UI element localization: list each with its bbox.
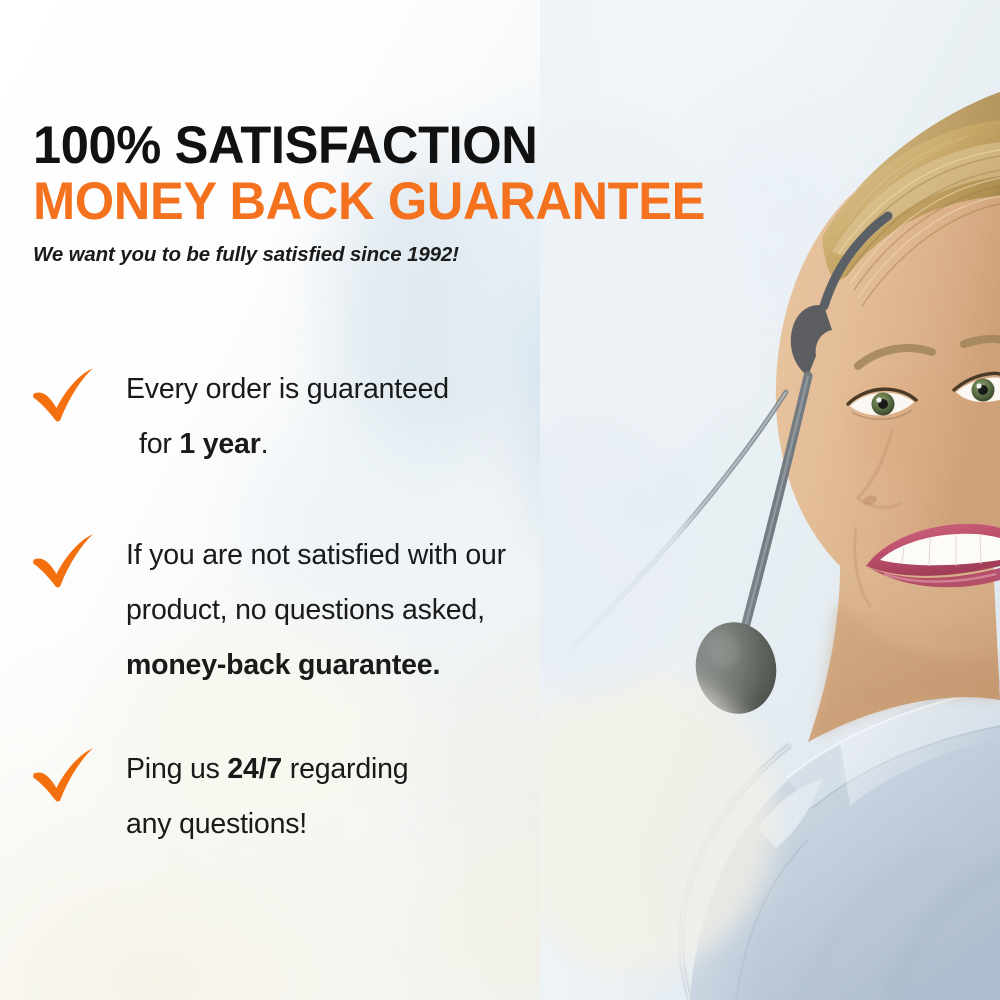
guarantee-item-text: Ping us 24/7 regarding any questions! — [126, 742, 670, 852]
guarantee-line: Every order is guaranteed — [126, 362, 670, 417]
checkmark-icon — [30, 532, 96, 588]
guarantee-line: Ping us 24/7 regarding — [126, 742, 670, 797]
guarantee-item: If you are not satisfied with our produc… — [30, 528, 670, 693]
subheading: We want you to be fully satisfied since … — [33, 243, 459, 267]
guarantee-line: If you are not satisfied with our — [126, 528, 670, 583]
guarantee-item: Ping us 24/7 regarding any questions! — [30, 742, 670, 852]
guarantee-item-text: Every order is guaranteed for 1 year. — [126, 362, 670, 472]
headline-line-money-back-guarantee: MONEY BACK GUARANTEE — [33, 174, 705, 230]
guarantee-line-prefix: for — [139, 428, 179, 460]
guarantee-line: money-back guarantee. — [126, 638, 670, 693]
guarantee-line: any questions! — [126, 797, 670, 852]
guarantee-line-suffix: . — [261, 428, 269, 460]
guarantee-line: for 1 year. — [126, 417, 670, 472]
guarantee-line-emphasis: 1 year — [179, 428, 260, 460]
guarantee-line-prefix: Ping us — [126, 753, 227, 785]
guarantee-item: Every order is guaranteed for 1 year. — [30, 362, 670, 472]
guarantee-item-text: If you are not satisfied with our produc… — [126, 528, 670, 693]
headline-line-satisfaction: 100% SATISFACTION — [33, 118, 705, 174]
headline: 100% SATISFACTION MONEY BACK GUARANTEE — [33, 118, 737, 230]
checkmark-icon — [30, 746, 96, 802]
guarantee-line-suffix: regarding — [282, 753, 408, 785]
banner-content: 100% SATISFACTION MONEY BACK GUARANTEE W… — [0, 0, 700, 1000]
guarantee-line-emphasis: 24/7 — [227, 753, 282, 785]
checkmark-icon — [30, 366, 96, 422]
guarantee-line: product, no questions asked, — [126, 583, 670, 638]
guarantee-line-emphasis: money-back guarantee. — [126, 649, 440, 681]
guarantee-banner: 100% SATISFACTION MONEY BACK GUARANTEE W… — [0, 0, 1000, 1000]
